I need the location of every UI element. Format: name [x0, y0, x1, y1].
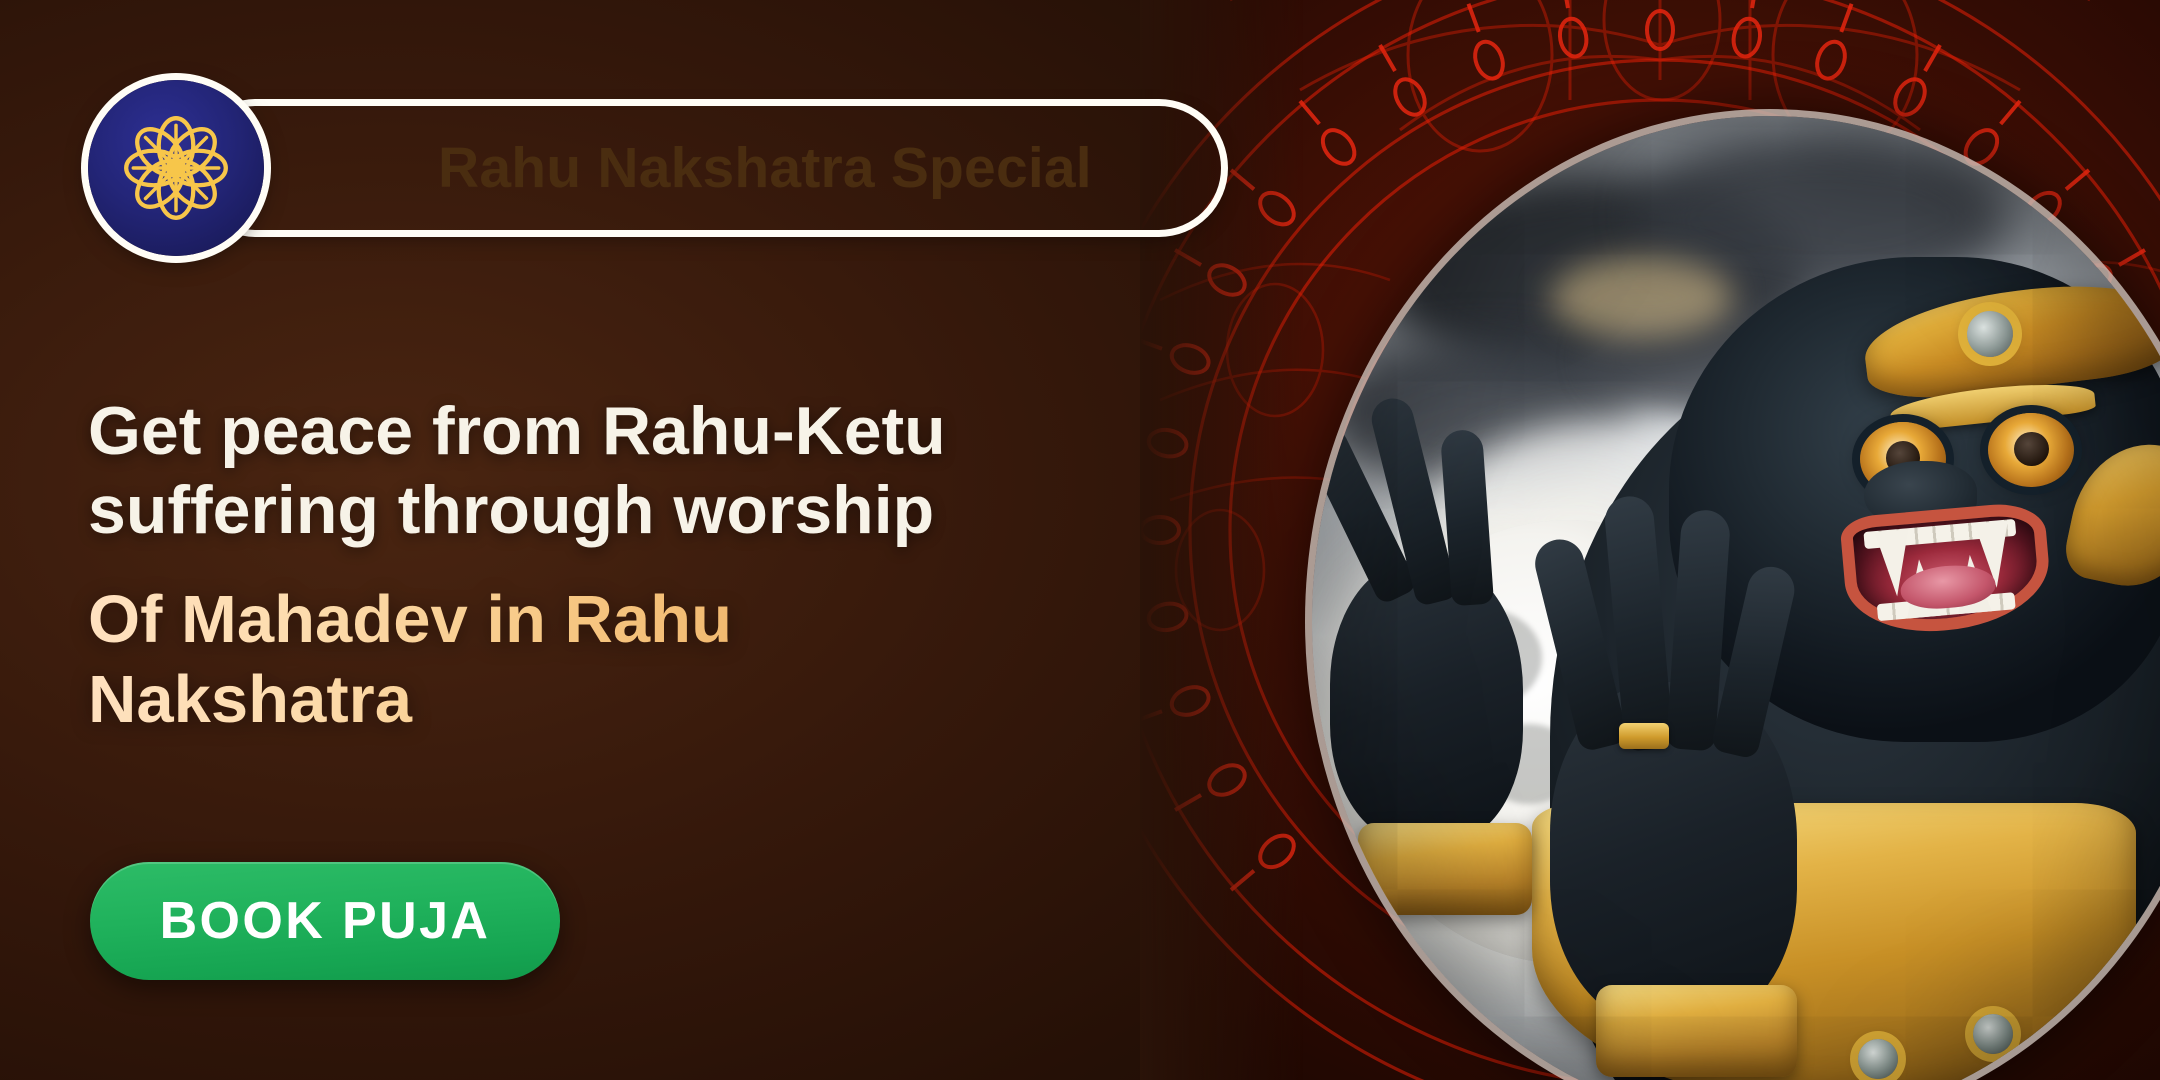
promotional-banner: Rahu Nakshatra Special — [0, 0, 2160, 1080]
rahu-hand-front — [1550, 682, 1797, 1025]
rahu-mouth — [1839, 501, 2054, 640]
subheadline-line-1: Of Mahadev in Rahu — [88, 580, 1048, 660]
badge-label: Rahu Nakshatra Special — [438, 135, 1092, 201]
headline-line-2: suffering through worship — [88, 471, 1088, 550]
badge-pill: Rahu Nakshatra Special — [194, 106, 1221, 230]
rahu-eye-right — [1988, 413, 2074, 487]
headline: Get peace from Rahu-Ketu suffering throu… — [88, 392, 1088, 550]
storm-cloud — [1550, 257, 1733, 338]
subheadline: Of Mahadev in Rahu Nakshatra — [88, 580, 1048, 741]
book-puja-button[interactable]: BOOK PUJA — [90, 862, 560, 980]
gold-bangle-left — [1358, 823, 1532, 915]
gold-bangle-right — [1596, 985, 1798, 1077]
headline-line-1: Get peace from Rahu-Ketu — [88, 392, 1088, 471]
subheadline-line-2: Nakshatra — [88, 660, 1048, 740]
artwork-panel — [1140, 0, 2160, 1080]
content-column: Rahu Nakshatra Special — [0, 0, 1180, 1080]
rahu-hand-back — [1330, 560, 1522, 843]
lotus-mandala-icon — [115, 107, 237, 229]
rahu-portrait — [1312, 116, 2160, 1080]
brand-logo — [88, 80, 264, 256]
gold-ear-ornament — [2061, 430, 2160, 598]
